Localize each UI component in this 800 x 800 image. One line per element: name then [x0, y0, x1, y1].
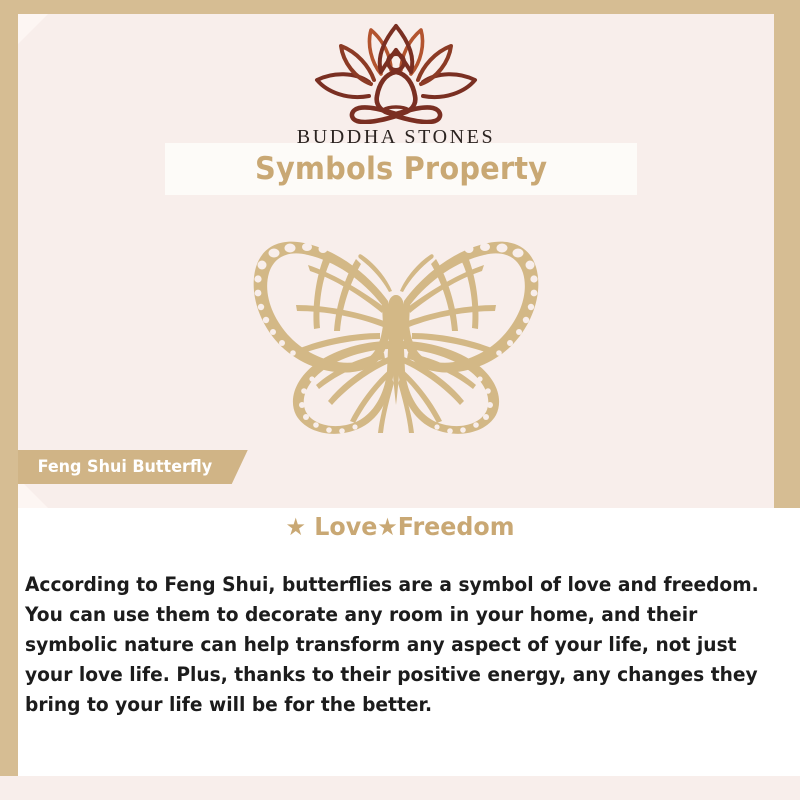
feng-shui-butterfly-tag: Feng Shui Butterfly — [18, 450, 248, 484]
frame-right-border — [774, 0, 800, 585]
hero-panel: BUDDHA STONES Symbols Property — [18, 14, 774, 508]
butterfly-illustration-icon — [216, 229, 576, 444]
title-banner: Symbols Property — [165, 143, 637, 195]
subheading-word-love: Love — [314, 512, 377, 541]
footer-strip — [0, 776, 800, 800]
subheading-word-freedom: Freedom — [398, 512, 515, 541]
frame-left-border — [0, 0, 18, 800]
lotus-meditation-logo-icon — [311, 22, 481, 124]
frame-top-border — [0, 0, 800, 14]
subheading: ★ Love★Freedom — [37, 512, 763, 541]
butterfly-illustration-wrap — [18, 229, 774, 449]
star-icon-left: ★ — [286, 513, 306, 541]
star-icon-middle: ★ — [377, 513, 397, 541]
tag-label: Feng Shui Butterfly — [38, 457, 213, 477]
brand-lockup: BUDDHA STONES — [18, 22, 774, 149]
description-section: ★ Love★Freedom According to Feng Shui, b… — [18, 508, 800, 776]
page-title: Symbols Property — [255, 151, 547, 187]
description-paragraph: According to Feng Shui, butterflies are … — [25, 570, 760, 720]
infographic-page: BUDDHA STONES Symbols Property — [0, 0, 800, 800]
